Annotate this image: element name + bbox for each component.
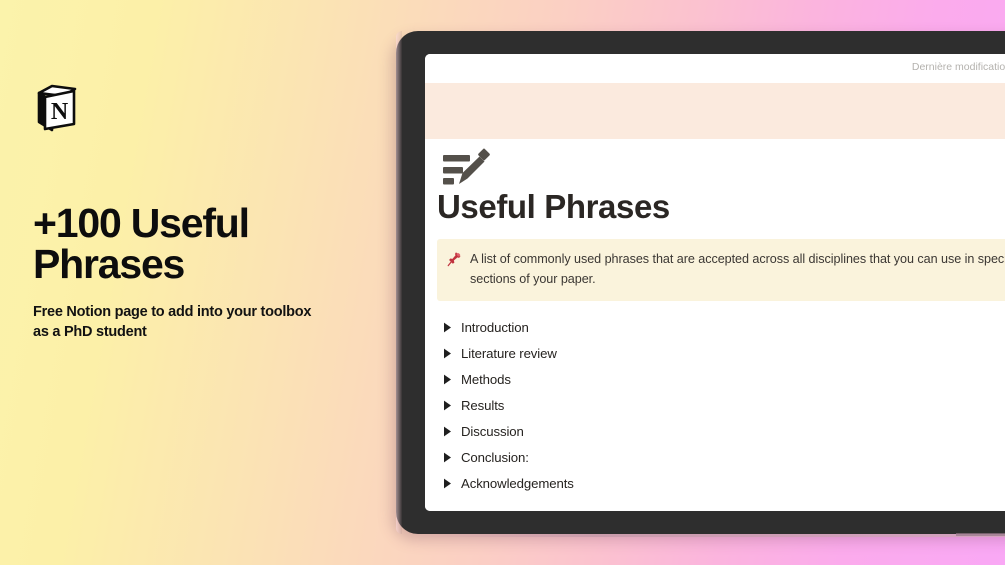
toggle-item-discussion[interactable]: Discussion: [437, 418, 1005, 444]
tablet-screen: Dernière modification : Il y a Useful Ph…: [425, 54, 1005, 511]
toggle-label: Discussion: [461, 424, 524, 439]
page-cover-banner[interactable]: [425, 83, 1005, 139]
chevron-right-icon[interactable]: [443, 322, 452, 333]
chevron-right-icon[interactable]: [443, 374, 452, 385]
callout-block[interactable]: A list of commonly used phrases that are…: [437, 239, 1005, 301]
pushpin-icon: [447, 251, 462, 267]
chevron-right-icon[interactable]: [443, 426, 452, 437]
toggle-item-acknowledgements[interactable]: Acknowledgements: [437, 470, 1005, 496]
chevron-right-icon[interactable]: [443, 348, 452, 359]
page-title: Useful Phrases: [437, 189, 1005, 225]
headline-line-2: Phrases: [33, 244, 363, 285]
toggle-item-introduction[interactable]: Introduction: [437, 314, 1005, 340]
device-speaker-notch: [956, 533, 1005, 536]
toggle-item-literature-review[interactable]: Literature review: [437, 340, 1005, 366]
device-bezel-highlight: [396, 31, 402, 534]
toggle-label: Results: [461, 398, 504, 413]
promo-panel: N +100 Useful Phrases Free Notion page t…: [0, 0, 400, 565]
tablet-device-frame: Dernière modification : Il y a Useful Ph…: [396, 31, 1005, 534]
toggle-label: Introduction: [461, 320, 529, 335]
chevron-right-icon[interactable]: [443, 400, 452, 411]
chevron-right-icon[interactable]: [443, 452, 452, 463]
toggle-label: Methods: [461, 372, 511, 387]
notion-cube-logo-icon: N: [36, 84, 78, 132]
toggle-label: Literature review: [461, 346, 557, 361]
subtitle-line-2: as a PhD student: [33, 322, 363, 342]
toggle-item-conclusion[interactable]: Conclusion:: [437, 444, 1005, 470]
notion-topbar: Dernière modification : Il y a: [425, 54, 1005, 83]
toggle-label: Conclusion:: [461, 450, 529, 465]
toggle-list: Introduction Literature review Methods: [437, 314, 1005, 496]
last-modified-label: Dernière modification : Il y a: [912, 61, 1005, 73]
device-bottom-edge: [416, 534, 1005, 537]
page-subtitle: Free Notion page to add into your toolbo…: [33, 302, 363, 342]
subtitle-line-1: Free Notion page to add into your toolbo…: [33, 302, 363, 322]
memo-icon[interactable]: [438, 140, 492, 194]
headline-line-1: +100 Useful: [33, 203, 363, 244]
page-headline: +100 Useful Phrases: [33, 203, 363, 285]
chevron-right-icon[interactable]: [443, 478, 452, 489]
callout-text: A list of commonly used phrases that are…: [470, 250, 1005, 289]
svg-text:N: N: [51, 99, 69, 125]
toggle-label: Acknowledgements: [461, 476, 574, 491]
toggle-item-results[interactable]: Results: [437, 392, 1005, 418]
notion-page-content: Useful Phrases A list of commonly used p…: [425, 139, 1005, 511]
toggle-item-methods[interactable]: Methods: [437, 366, 1005, 392]
